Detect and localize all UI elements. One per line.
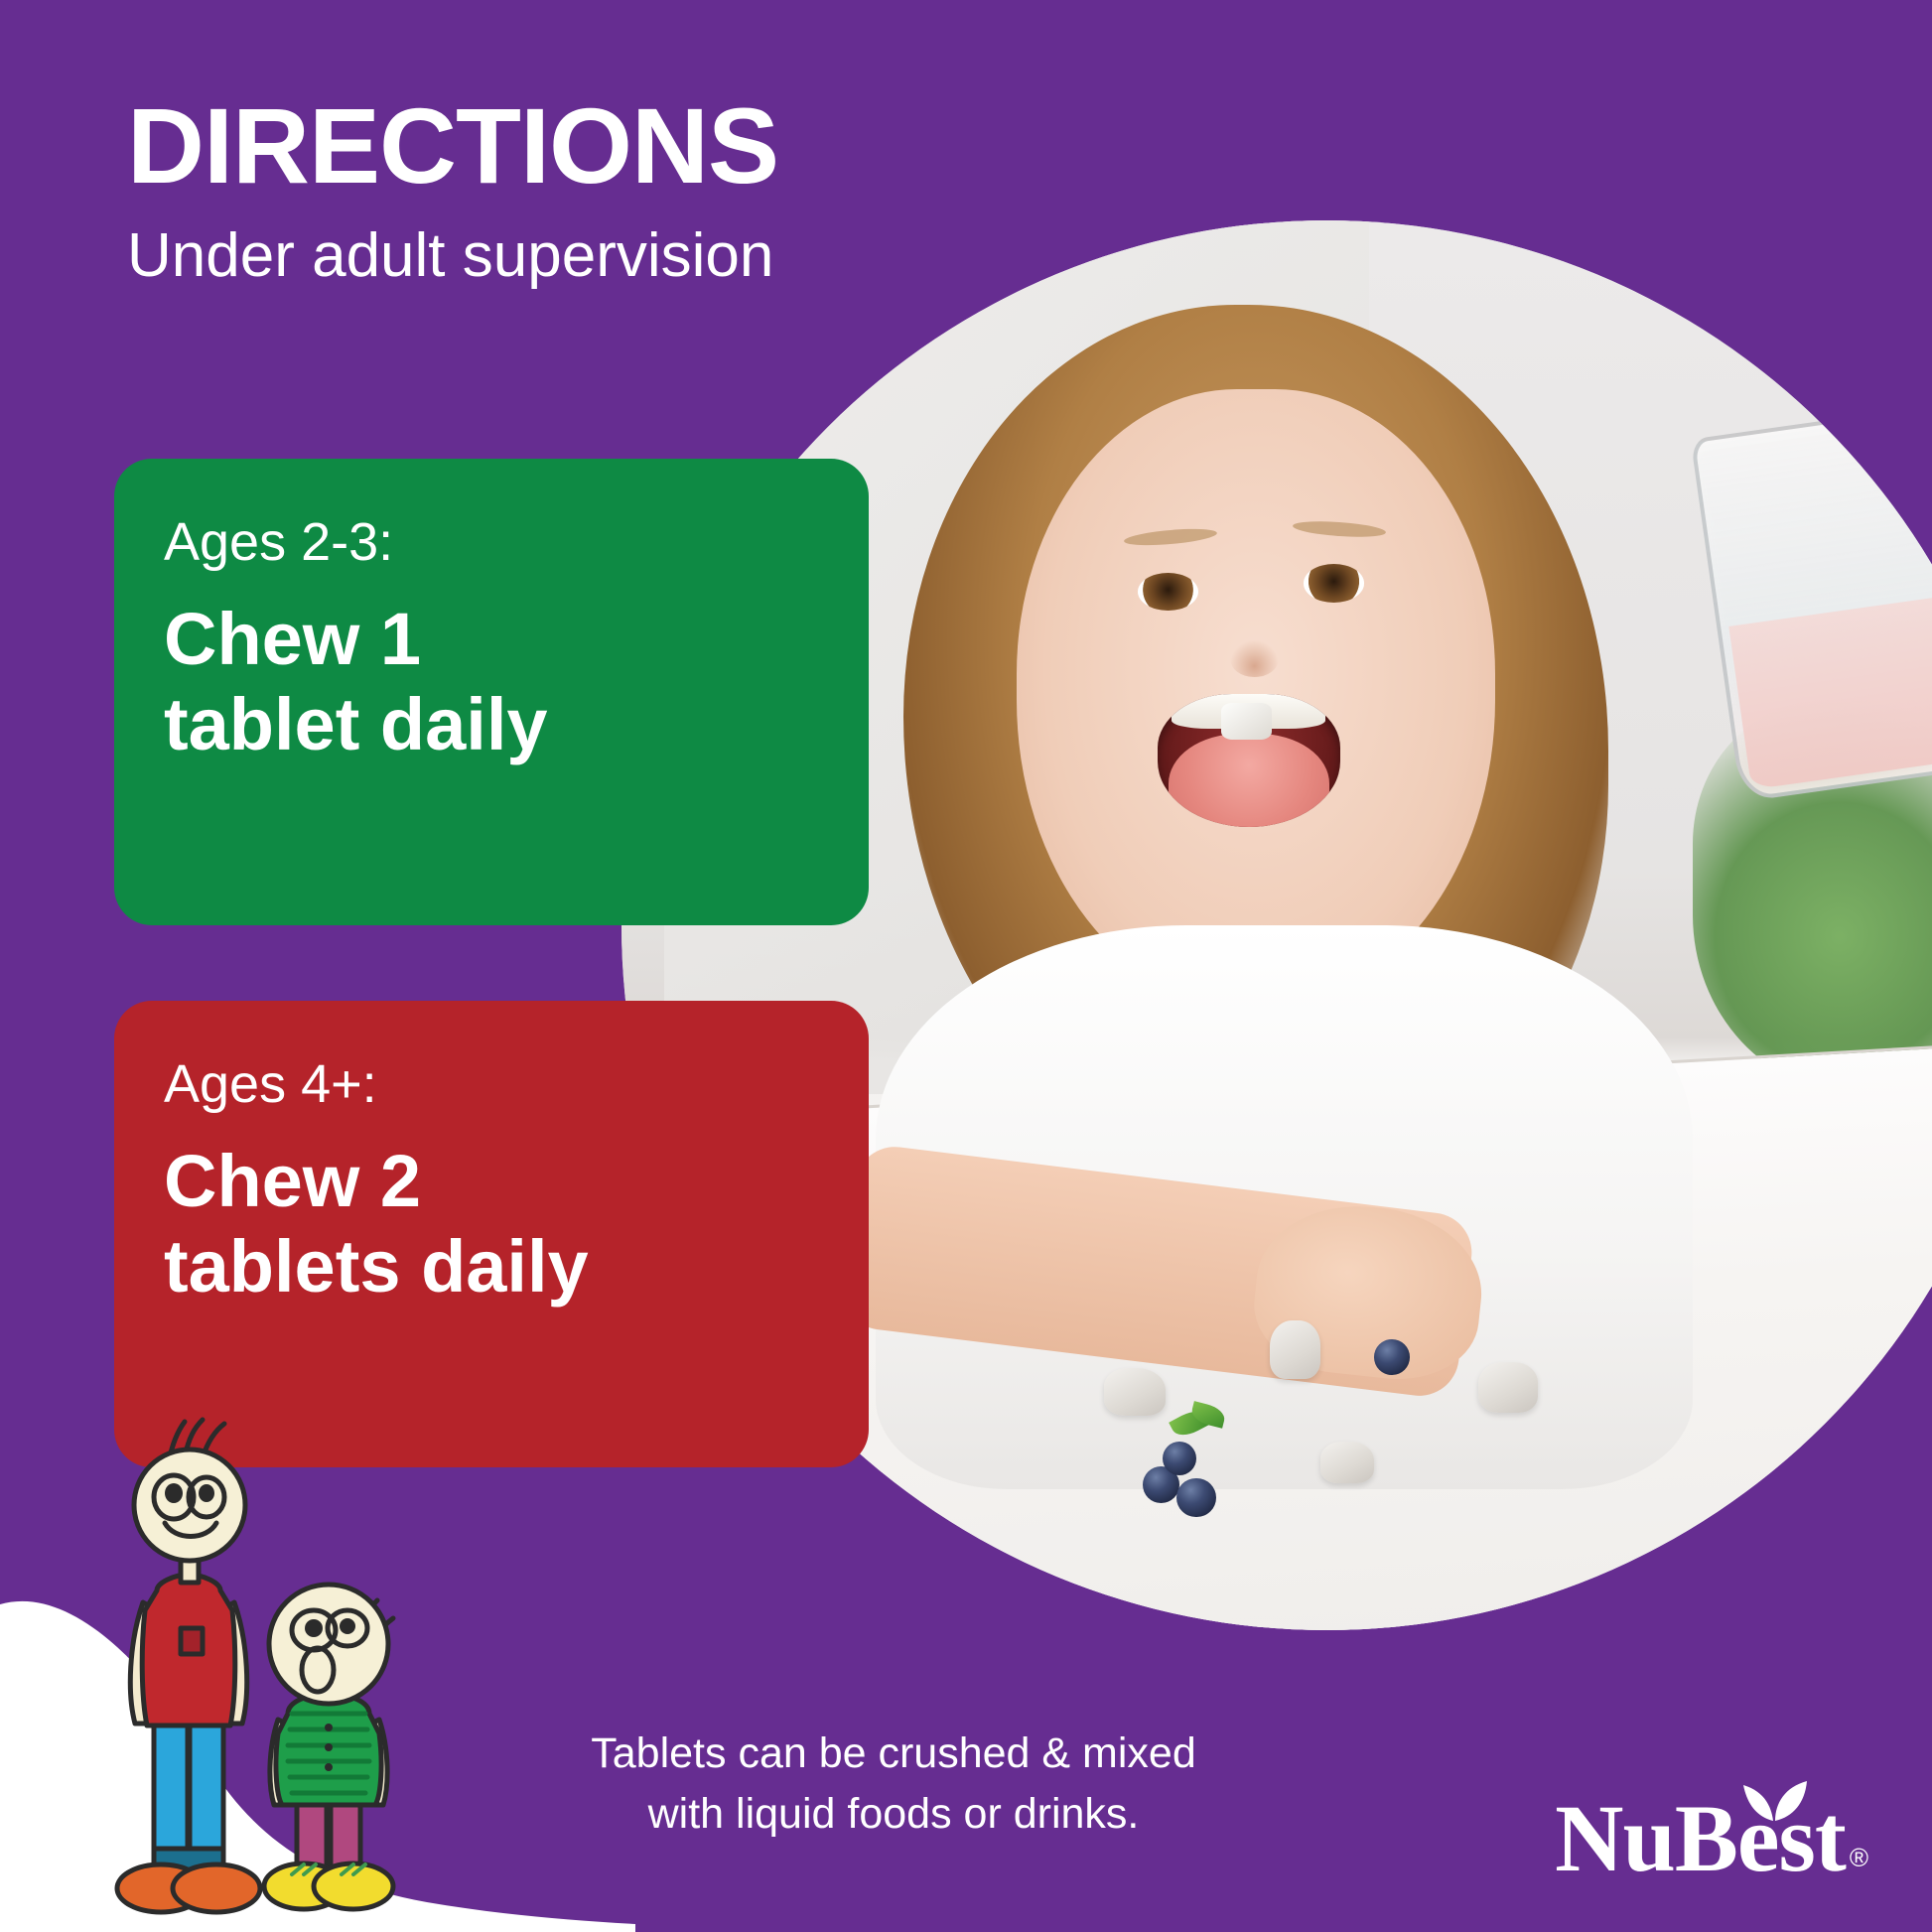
eye-right bbox=[1304, 564, 1364, 602]
water-level bbox=[1728, 591, 1932, 790]
dosage-badge-ages-2-3: Ages 2-3: Chew 1 tablet daily bbox=[114, 459, 869, 925]
nubest-logo: NuBest ® bbox=[1555, 1791, 1868, 1886]
nose bbox=[1230, 640, 1278, 677]
animal-tablet bbox=[1270, 1320, 1320, 1380]
dosage-age-label: Ages 4+: bbox=[164, 1056, 869, 1113]
tall-kid bbox=[117, 1420, 260, 1912]
two-cartoon-kids bbox=[58, 1416, 435, 1932]
blueberry bbox=[1374, 1339, 1410, 1375]
animal-tablet bbox=[1320, 1442, 1374, 1484]
footnote-line-2: with liquid foods or drinks. bbox=[516, 1784, 1271, 1845]
footnote-line-1: Tablets can be crushed & mixed bbox=[516, 1724, 1271, 1784]
animal-tablet bbox=[1104, 1368, 1166, 1416]
blueberry bbox=[1163, 1442, 1196, 1475]
tablet-on-tongue bbox=[1221, 703, 1272, 740]
leaf-icon bbox=[1741, 1777, 1811, 1823]
eye-left bbox=[1138, 573, 1198, 611]
page-title: DIRECTIONS bbox=[127, 91, 1120, 201]
footnote-text: Tablets can be crushed & mixed with liqu… bbox=[516, 1724, 1271, 1845]
registered-mark: ® bbox=[1850, 1845, 1868, 1870]
dosage-badge-ages-4-plus: Ages 4+: Chew 2 tablets daily bbox=[114, 1001, 869, 1467]
animal-tablet bbox=[1478, 1362, 1538, 1413]
dosage-dose-label: Chew 2 tablets daily bbox=[164, 1139, 869, 1311]
dosage-dose-label: Chew 1 tablet daily bbox=[164, 597, 869, 768]
directions-poster: DIRECTIONS Under adult supervision bbox=[0, 0, 1932, 1932]
dosage-age-label: Ages 2-3: bbox=[164, 514, 869, 571]
tongue bbox=[1169, 734, 1329, 826]
short-kid bbox=[264, 1585, 393, 1909]
